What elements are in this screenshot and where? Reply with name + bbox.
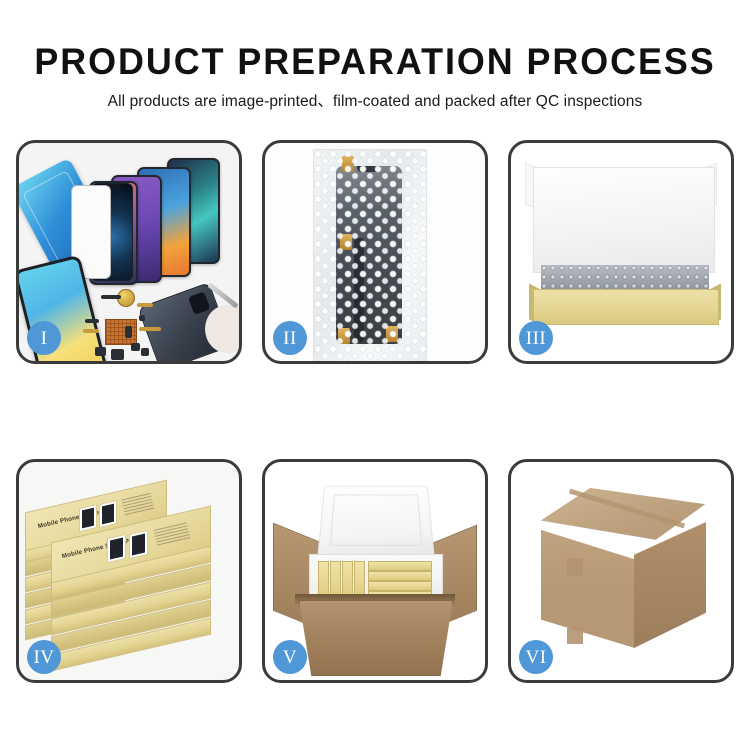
step-panel-6: VI bbox=[508, 459, 734, 683]
step-badge-2: II bbox=[273, 321, 307, 355]
step-badge-1: I bbox=[27, 321, 61, 355]
inner-yellow-box-5 bbox=[368, 561, 432, 571]
inner-yellow-box-7 bbox=[368, 581, 432, 591]
header: PRODUCT PREPARATION PROCESS All products… bbox=[0, 0, 750, 111]
step-numeral-5: V bbox=[283, 648, 297, 667]
step-badge-3: III bbox=[519, 321, 553, 355]
step-badge-5: V bbox=[273, 640, 307, 674]
page-subtitle: All products are image-printed、film-coat… bbox=[0, 82, 750, 111]
step-panel-1: I bbox=[16, 140, 242, 364]
page-title: PRODUCT PREPARATION PROCESS bbox=[11, 0, 739, 82]
bubble-texture bbox=[541, 265, 709, 291]
carton-right-face bbox=[634, 522, 706, 648]
process-step-grid: I II bbox=[16, 140, 734, 736]
inner-yellow-box-6 bbox=[368, 571, 432, 581]
step-numeral-6: VI bbox=[525, 648, 546, 667]
step-numeral-4: IV bbox=[33, 648, 54, 667]
step-numeral-1: I bbox=[41, 329, 48, 348]
copper-mesh-part bbox=[105, 319, 137, 345]
step-numeral-3: III bbox=[526, 329, 546, 348]
step-numeral-2: II bbox=[283, 329, 297, 348]
flex-cable-b bbox=[139, 327, 161, 331]
foam-box-lid bbox=[317, 486, 434, 557]
product-preparation-infographic: PRODUCT PREPARATION PROCESS All products… bbox=[0, 0, 750, 750]
step-panel-5: V bbox=[262, 459, 488, 683]
box-contents-bubblewrap bbox=[541, 265, 709, 291]
carton-front-panel bbox=[299, 600, 453, 676]
step-badge-6: VI bbox=[519, 640, 553, 674]
carton-left-face bbox=[541, 530, 635, 648]
step-panel-4: Mobile Phone Spare Parts Mobile Phone Sp… bbox=[16, 459, 242, 683]
box-screen-image-c bbox=[107, 534, 126, 563]
small-part-chip-b bbox=[95, 347, 106, 356]
small-part-chip-e bbox=[141, 348, 149, 356]
bubble-wrap-bag bbox=[313, 149, 427, 361]
step-badge-4: IV bbox=[27, 640, 61, 674]
small-part-chip-c bbox=[111, 349, 124, 360]
small-part-chip-g bbox=[85, 319, 99, 323]
box-screen-image-a bbox=[79, 504, 97, 532]
small-part-chip-a bbox=[101, 295, 121, 299]
box-lid-panel bbox=[533, 167, 715, 273]
small-part-chip-h bbox=[139, 315, 145, 321]
flex-cable-c bbox=[83, 329, 99, 333]
step-panel-2: II bbox=[262, 140, 488, 364]
box-front-panel bbox=[533, 289, 719, 325]
small-part-chip-f bbox=[125, 326, 132, 338]
bubble-texture bbox=[314, 150, 426, 361]
flex-cable-a bbox=[137, 303, 153, 307]
small-part-chip-d bbox=[131, 343, 140, 351]
carton-tab-lower bbox=[567, 628, 583, 644]
step-panel-3: III bbox=[508, 140, 734, 364]
carton-tab-upper bbox=[567, 558, 583, 576]
box-screen-image-b bbox=[99, 500, 117, 528]
box-screen-image-d bbox=[129, 530, 148, 559]
